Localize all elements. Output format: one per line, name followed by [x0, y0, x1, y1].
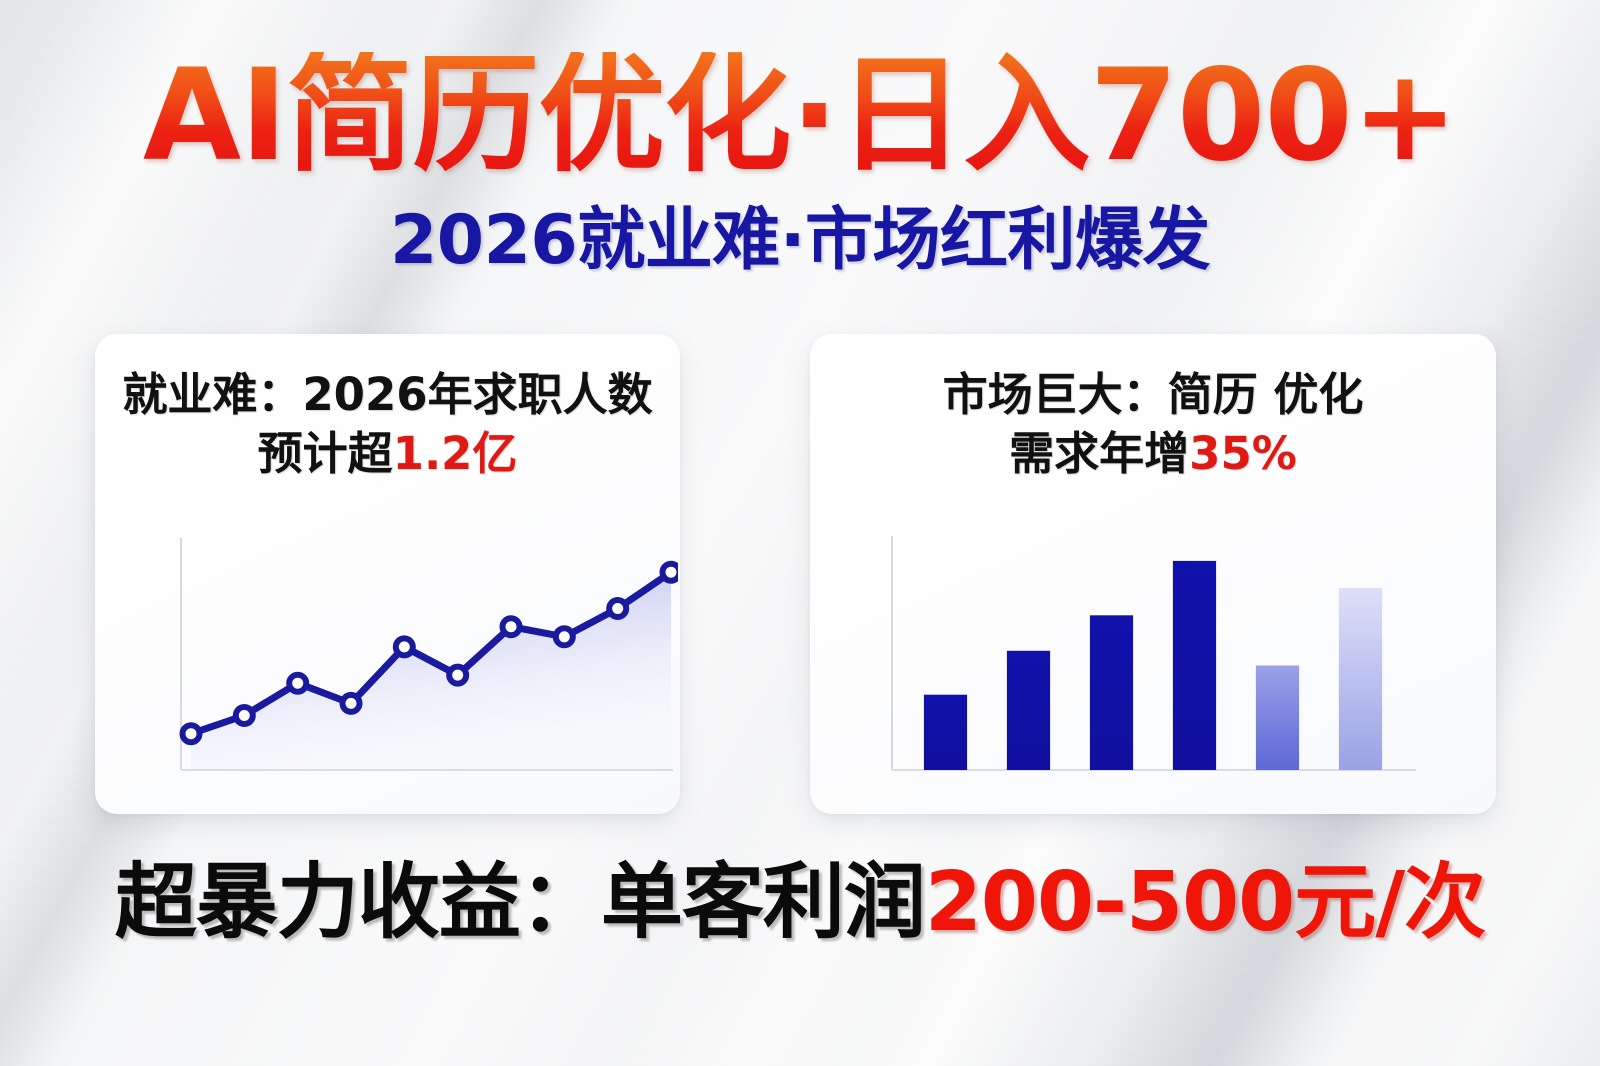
bar-chart-bar [1090, 615, 1133, 770]
bar-chart-bar [924, 695, 967, 770]
line-chart-marker [609, 600, 626, 617]
bottom-banner: 超暴力收益：单客利润200-500元/次 [0, 862, 1600, 944]
card-market-highlight: 35% [1189, 427, 1297, 480]
bar-chart-demand [882, 530, 1422, 785]
card-market-title-prefix: 需求年增 [1009, 427, 1189, 480]
line-chart-marker [663, 564, 679, 581]
bar-chart-bar [1339, 588, 1382, 770]
line-chart-marker [183, 725, 200, 742]
line-chart-marker [396, 638, 413, 655]
line-chart-marker [236, 707, 253, 724]
line-chart-marker [289, 675, 306, 692]
main-headline: AI简历优化·日入700+ [0, 52, 1600, 179]
line-chart-job-seekers [173, 534, 678, 784]
bar-chart-bars [924, 561, 1382, 770]
card-employment-title: 就业难：2026年求职人数 预计超1.2亿 [95, 366, 680, 483]
card-employment-title-prefix: 预计超 [258, 427, 393, 480]
bar-chart-svg [882, 530, 1422, 785]
line-series [183, 564, 679, 770]
card-employment: 就业难：2026年求职人数 预计超1.2亿 [95, 334, 680, 814]
line-chart-marker [449, 667, 466, 684]
banner-highlight-text: 200-500元/次 [925, 855, 1485, 950]
card-employment-title-line1: 就业难：2026年求职人数 [95, 366, 680, 425]
sub-headline: 2026就业难·市场红利爆发 [0, 207, 1600, 275]
line-chart-marker [556, 628, 573, 645]
card-market-title-line1: 市场巨大：简历 优化 [810, 366, 1496, 425]
card-market: 市场巨大：简历 优化 需求年增35% [810, 334, 1496, 814]
line-chart-svg [173, 534, 678, 784]
card-market-title-line2: 需求年增35% [810, 425, 1496, 484]
bar-chart-bar [1007, 651, 1050, 770]
banner-lead-text: 超暴力收益：单客利润 [115, 855, 925, 950]
card-market-title: 市场巨大：简历 优化 需求年增35% [810, 366, 1496, 483]
line-chart-marker [343, 695, 360, 712]
bar-chart-bar [1173, 561, 1216, 770]
card-employment-title-line2: 预计超1.2亿 [95, 425, 680, 484]
line-chart-marker [503, 618, 520, 635]
line-chart-area-fill [191, 572, 671, 770]
bar-chart-bar [1256, 666, 1299, 771]
card-employment-highlight: 1.2亿 [393, 427, 518, 480]
